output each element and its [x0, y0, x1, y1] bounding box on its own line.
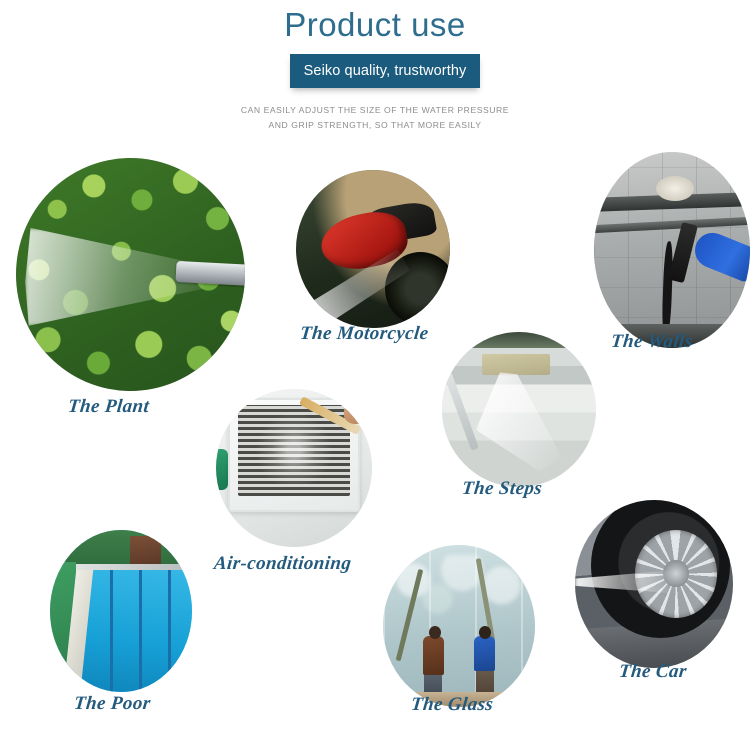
subtitle-line-2: AND GRIP STRENGTH, SO THAT MORE EASILY	[0, 120, 750, 130]
photo-car	[575, 500, 733, 668]
use-case-plant	[16, 158, 245, 391]
tagline-badge-text: Seiko quality, trustworthy	[304, 63, 467, 79]
worker-right-head	[479, 626, 491, 639]
caption-glass: The Glass	[410, 694, 495, 716]
page-header: Product use Seiko quality, trustworthy C…	[0, 0, 750, 150]
photo-air-conditioning	[216, 389, 372, 547]
worker-left-body	[423, 636, 444, 675]
use-case-pool	[50, 530, 192, 692]
caption-steps: The Steps	[461, 478, 543, 500]
spray-nozzle	[176, 261, 245, 286]
photo-motorcycle	[296, 170, 450, 328]
tagline-badge: Seiko quality, trustworthy	[290, 54, 480, 88]
ac-fan-swirl	[253, 414, 334, 487]
worker-hand	[344, 402, 372, 424]
photo-walls	[594, 152, 750, 348]
photo-plant	[16, 158, 245, 391]
caption-pool: The Poor	[73, 693, 152, 715]
caption-plant: The Plant	[67, 396, 150, 418]
ceiling-lamp	[656, 176, 693, 201]
caption-motorcycle: The Motorcycle	[299, 323, 430, 345]
pool-lane-line	[110, 569, 113, 692]
green-panel-edge	[216, 449, 228, 490]
stone-plaque	[482, 354, 550, 376]
photo-glass	[383, 545, 535, 707]
use-case-motorcycle	[296, 170, 450, 328]
worker-left-head	[429, 626, 441, 639]
use-case-air-conditioning	[216, 389, 372, 547]
pool-lane-line	[168, 569, 171, 692]
use-case-glass	[383, 545, 535, 707]
subtitle-line-1: CAN EASILY ADJUST THE SIZE OF THE WATER …	[0, 105, 750, 115]
use-case-car	[575, 500, 733, 668]
worker-right-body	[474, 636, 495, 672]
photo-pool	[50, 530, 192, 692]
poolside-hut	[130, 536, 161, 565]
green-fence-band	[50, 530, 192, 566]
pool-water	[81, 569, 192, 692]
use-case-walls	[594, 152, 750, 348]
caption-air-conditioning: Air-conditioning	[213, 553, 353, 575]
photo-steps	[442, 332, 596, 487]
caption-walls: The Walls	[610, 331, 694, 353]
page-title: Product use	[0, 6, 750, 44]
hedge-top-band	[442, 332, 596, 348]
tagline-badge-box: Seiko quality, trustworthy	[290, 54, 480, 88]
use-case-steps	[442, 332, 596, 487]
pool-lane-line	[139, 569, 142, 692]
pool-starting-rail	[76, 564, 192, 570]
caption-car: The Car	[618, 661, 688, 683]
